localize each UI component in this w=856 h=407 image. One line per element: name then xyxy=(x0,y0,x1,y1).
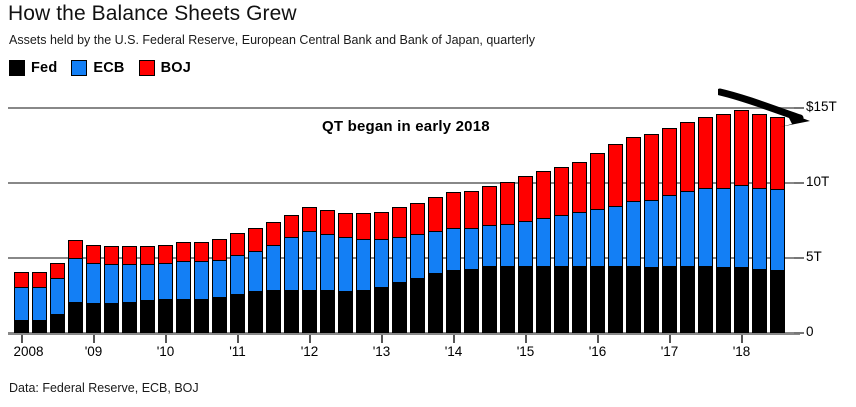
bar-segment-boj xyxy=(410,203,425,236)
bar-segment-boj xyxy=(698,117,713,189)
bar-segment-fed xyxy=(680,266,695,335)
bar-segment-fed xyxy=(716,267,731,334)
bar-segment-boj xyxy=(122,246,137,265)
bar-segment-boj xyxy=(572,162,587,213)
bar-segment-fed xyxy=(302,290,317,335)
bar-segment-boj xyxy=(626,137,641,203)
bar-segment-fed xyxy=(752,269,767,335)
bar-segment-fed xyxy=(536,266,551,335)
bar-segment-ecb xyxy=(590,209,605,267)
bar-segment-fed xyxy=(68,302,83,335)
bar-segment-ecb xyxy=(410,234,425,279)
y-tick-mark xyxy=(794,257,804,259)
bar-segment-ecb xyxy=(86,263,101,305)
bar-segment-boj xyxy=(50,263,65,279)
x-axis-label: '13 xyxy=(373,344,391,359)
x-tick-mark xyxy=(453,335,455,343)
bar-segment-ecb xyxy=(32,287,47,321)
bar-segment-ecb xyxy=(500,224,515,267)
bar-segment-fed xyxy=(266,290,281,335)
bar-segment-boj xyxy=(500,182,515,225)
bar-segment-fed xyxy=(374,287,389,335)
bar-segment-ecb xyxy=(212,260,227,299)
bar-segment-fed xyxy=(662,266,677,335)
bar-segment-ecb xyxy=(428,231,443,274)
bar-segment-fed xyxy=(248,291,263,334)
bar-segment-ecb xyxy=(320,234,335,291)
bar-segment-fed xyxy=(104,303,119,334)
bar-segment-fed xyxy=(50,314,65,335)
y-axis-label: 5T xyxy=(806,249,822,264)
bar-segment-fed xyxy=(572,266,587,335)
bar-segment-boj xyxy=(284,215,299,239)
bar-segment-boj xyxy=(212,239,227,261)
chart-root: How the Balance Sheets Grew Assets held … xyxy=(0,0,856,407)
bar-segment-boj xyxy=(518,176,533,222)
bar-segment-fed xyxy=(338,291,353,334)
x-axis-label: '16 xyxy=(589,344,607,359)
bar-segment-boj xyxy=(32,272,47,288)
bar-segment-boj xyxy=(320,210,335,235)
bar-segment-fed xyxy=(590,266,605,335)
bar-segment-fed xyxy=(482,266,497,335)
bar-segment-ecb xyxy=(158,263,173,300)
qt-annotation: QT began in early 2018 xyxy=(322,118,490,135)
bar-segment-fed xyxy=(212,297,227,334)
bar-segment-fed xyxy=(122,302,137,335)
bar-segment-fed xyxy=(158,299,173,335)
x-tick-mark xyxy=(309,335,311,343)
bar-segment-ecb xyxy=(698,188,713,267)
bar-segment-boj xyxy=(608,144,623,207)
bar-segment-ecb xyxy=(104,264,119,304)
x-tick-mark xyxy=(741,335,743,343)
bar-segment-fed xyxy=(230,294,245,334)
bar-segment-fed xyxy=(392,282,407,334)
bar-segment-ecb xyxy=(644,200,659,269)
plot-area: 2008'09'10'11'12'13'14'15'16'17'18 05T10… xyxy=(0,0,856,407)
y-axis-label: 10T xyxy=(806,174,829,189)
bar-segment-fed xyxy=(464,269,479,335)
bar-segment-boj xyxy=(374,212,389,240)
bar-segment-ecb xyxy=(374,239,389,288)
x-axis-label: '09 xyxy=(85,344,103,359)
bar-segment-boj xyxy=(104,246,119,265)
bar-segment-fed xyxy=(284,290,299,335)
bar-segment-fed xyxy=(140,300,155,334)
bar-segment-boj xyxy=(338,213,353,238)
bar-segment-ecb xyxy=(752,188,767,270)
x-axis-label: '14 xyxy=(445,344,463,359)
bar-segment-ecb xyxy=(284,237,299,291)
trend-arrow-icon xyxy=(718,88,818,130)
bar-segment-ecb xyxy=(482,225,497,267)
bar-segment-boj xyxy=(644,134,659,201)
bar-segment-ecb xyxy=(716,188,731,269)
bar-segment-fed xyxy=(626,266,641,335)
bar-segment-ecb xyxy=(122,264,137,303)
bar-segment-boj xyxy=(14,272,29,288)
bar-segment-ecb xyxy=(176,261,191,300)
y-axis-label: 0 xyxy=(806,324,814,339)
x-tick-mark xyxy=(237,335,239,343)
bar-segment-fed xyxy=(428,273,443,334)
bar-segment-ecb xyxy=(248,251,263,293)
bar-segment-ecb xyxy=(14,287,29,321)
bar-segment-ecb xyxy=(554,215,569,267)
bar-segment-ecb xyxy=(662,195,677,267)
bar-segment-boj xyxy=(590,153,605,210)
bar-segment-ecb xyxy=(302,231,317,291)
bar-segment-boj xyxy=(536,171,551,219)
bar-segment-ecb xyxy=(464,228,479,270)
bar-segment-fed xyxy=(698,266,713,335)
bar-segment-boj xyxy=(176,242,191,263)
bar-segment-ecb xyxy=(734,185,749,269)
bar-segment-boj xyxy=(356,213,371,240)
x-tick-mark xyxy=(93,335,95,343)
bar-segment-boj xyxy=(680,122,695,192)
x-axis-label: '17 xyxy=(661,344,679,359)
bar-segment-boj xyxy=(554,167,569,216)
x-tick-mark xyxy=(165,335,167,343)
bar-segment-ecb xyxy=(446,228,461,271)
x-axis-label: '10 xyxy=(157,344,175,359)
bar-segment-boj xyxy=(482,186,497,226)
x-axis-label: '15 xyxy=(517,344,535,359)
bar-segment-boj xyxy=(248,228,263,252)
bar-segment-ecb xyxy=(338,237,353,292)
bar-segment-fed xyxy=(320,290,335,335)
source-note: Data: Federal Reserve, ECB, BOJ xyxy=(9,381,199,395)
bar-segment-fed xyxy=(770,270,785,334)
x-tick-mark xyxy=(597,335,599,343)
bar-segment-ecb xyxy=(140,264,155,301)
bar-segment-fed xyxy=(500,266,515,335)
x-tick-mark xyxy=(669,335,671,343)
bar-segment-ecb xyxy=(194,261,209,300)
bar-segment-fed xyxy=(554,266,569,335)
bar-segment-fed xyxy=(194,299,209,335)
x-axis-label: 2008 xyxy=(14,344,44,359)
bar-segment-boj xyxy=(446,192,461,229)
bar-segment-ecb xyxy=(608,206,623,267)
bar-segment-boj xyxy=(86,245,101,264)
bar-segment-ecb xyxy=(680,191,695,267)
x-tick-mark xyxy=(21,335,23,343)
bar-segment-fed xyxy=(14,320,29,335)
bar-segment-boj xyxy=(662,128,677,197)
y-tick-mark xyxy=(794,182,804,184)
y-tick-mark xyxy=(794,332,804,334)
bar-segment-boj xyxy=(428,197,443,233)
bar-segment-fed xyxy=(644,267,659,334)
bar-segment-ecb xyxy=(356,239,371,291)
bar-segment-boj xyxy=(464,191,479,230)
bar-segment-boj xyxy=(302,207,317,232)
bar-segment-boj xyxy=(194,242,209,263)
bar-segment-fed xyxy=(734,267,749,334)
bar-segment-fed xyxy=(32,320,47,335)
bar-segment-fed xyxy=(608,266,623,335)
x-axis-label: '11 xyxy=(229,344,246,359)
bar-segment-boj xyxy=(158,245,173,264)
bar-segment-boj xyxy=(68,240,83,259)
bar-segment-fed xyxy=(176,299,191,335)
bar-segment-ecb xyxy=(518,221,533,267)
bar-segment-ecb xyxy=(626,201,641,267)
bar-segment-ecb xyxy=(50,278,65,315)
bar-segment-boj xyxy=(230,233,245,257)
bar-segment-ecb xyxy=(770,189,785,271)
x-tick-mark xyxy=(381,335,383,343)
bar-segment-ecb xyxy=(230,255,245,295)
bar-segment-fed xyxy=(410,278,425,335)
bar-segment-ecb xyxy=(572,212,587,267)
x-axis-label: '12 xyxy=(301,344,319,359)
x-axis-label: '18 xyxy=(733,344,751,359)
gridline-15 xyxy=(8,107,800,109)
bar-segment-fed xyxy=(356,290,371,335)
bar-segment-ecb xyxy=(392,237,407,283)
bar-segment-ecb xyxy=(68,258,83,303)
bar-segment-fed xyxy=(446,270,461,334)
bar-segment-boj xyxy=(266,222,281,246)
bar-segment-boj xyxy=(392,207,407,238)
bar-segment-fed xyxy=(518,266,533,335)
bar-segment-ecb xyxy=(536,218,551,267)
x-tick-mark xyxy=(525,335,527,343)
bar-segment-boj xyxy=(140,246,155,265)
bar-segment-ecb xyxy=(266,245,281,291)
bar-segment-fed xyxy=(86,303,101,334)
x-axis-line xyxy=(8,333,800,335)
